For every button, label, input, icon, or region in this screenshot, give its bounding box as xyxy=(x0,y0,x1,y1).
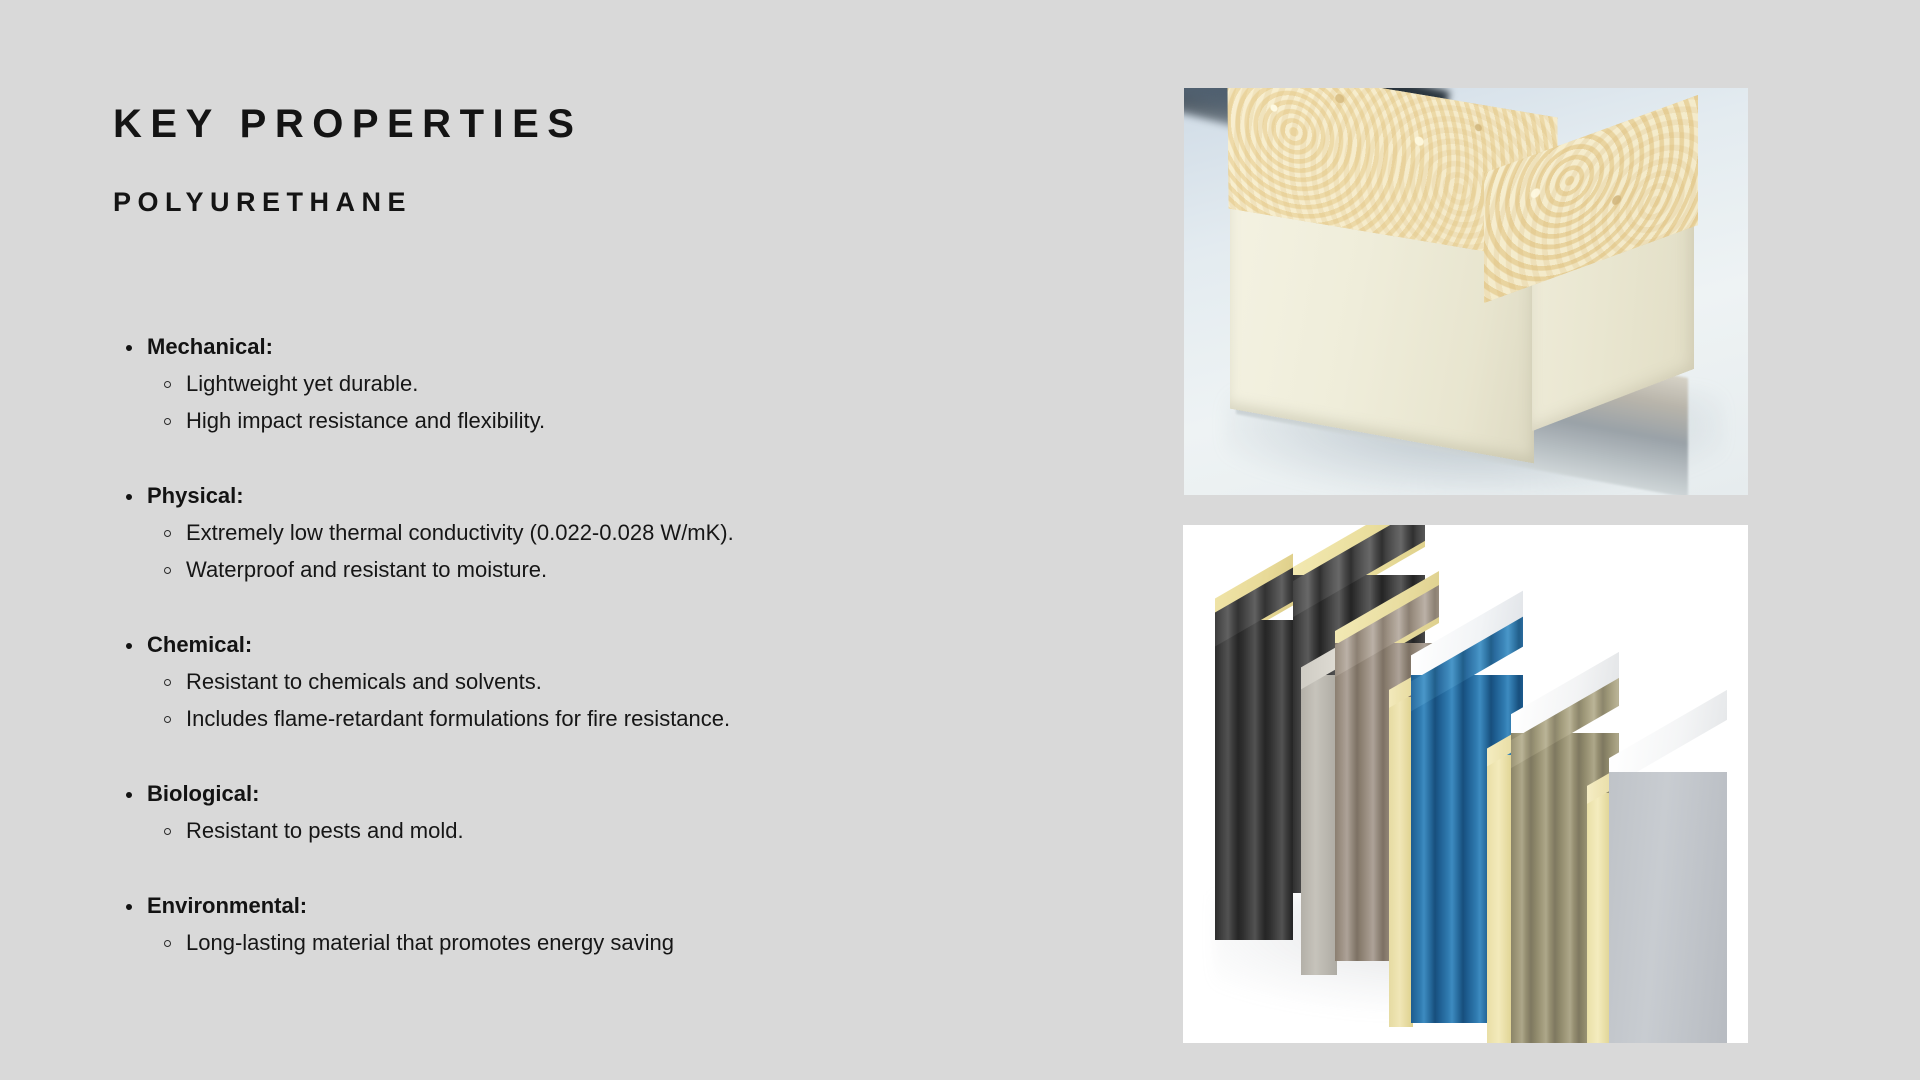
panel-dark-charcoal-edge xyxy=(1215,620,1293,940)
panel-gray-foam-edge xyxy=(1587,793,1611,1043)
page-subtitle: POLYURETHANE xyxy=(113,188,412,218)
property-item: Extremely low thermal conductivity (0.02… xyxy=(113,514,1113,551)
property-item: Long-lasting material that promotes ener… xyxy=(113,924,1113,961)
property-group-heading: Chemical: xyxy=(113,626,1113,663)
property-group: Environmental: Long-lasting material tha… xyxy=(113,887,1113,961)
property-group-heading: Biological: xyxy=(113,775,1113,812)
panel-taupe-back-liner xyxy=(1301,675,1337,975)
slide-root: { "slide": { "background_color": "#d9d9d… xyxy=(0,0,1920,1080)
property-group: Biological: Resistant to pests and mold. xyxy=(113,775,1113,849)
flat-panel-face xyxy=(1609,772,1727,1043)
property-group-heading: Environmental: xyxy=(113,887,1113,924)
panel-olive-foam-edge xyxy=(1487,755,1513,1043)
property-group-heading: Physical: xyxy=(113,477,1113,514)
property-item: Waterproof and resistant to moisture. xyxy=(113,551,1113,588)
property-group: Mechanical: Lightweight yet durable. Hig… xyxy=(113,328,1113,439)
panel-blue-foam-edge xyxy=(1389,697,1413,1027)
insulated-sandwich-panel-render xyxy=(1183,525,1748,1043)
polyurethane-foam-block-photo xyxy=(1184,88,1748,495)
property-item: Includes flame-retardant formulations fo… xyxy=(113,700,1113,737)
panels-stage xyxy=(1183,525,1748,1043)
page-title: KEY PROPERTIES xyxy=(113,102,582,146)
property-item: Lightweight yet durable. xyxy=(113,365,1113,402)
property-item: High impact resistance and flexibility. xyxy=(113,402,1113,439)
panel-light-gray xyxy=(1609,772,1727,1043)
text-column: KEY PROPERTIES POLYURETHANE Mechanical: … xyxy=(0,0,1150,1080)
property-group-heading: Mechanical: xyxy=(113,328,1113,365)
property-group: Physical: Extremely low thermal conducti… xyxy=(113,477,1113,588)
foam-core-edge xyxy=(1587,793,1611,1043)
flat-liner-face xyxy=(1301,675,1337,975)
foam-core-edge xyxy=(1487,755,1513,1043)
property-item: Resistant to chemicals and solvents. xyxy=(113,663,1113,700)
corrugated-face xyxy=(1215,620,1293,940)
property-group: Chemical: Resistant to chemicals and sol… xyxy=(113,626,1113,737)
properties-list: Mechanical: Lightweight yet durable. Hig… xyxy=(113,328,1113,961)
property-item: Resistant to pests and mold. xyxy=(113,812,1113,849)
foam-core-edge xyxy=(1389,697,1413,1027)
